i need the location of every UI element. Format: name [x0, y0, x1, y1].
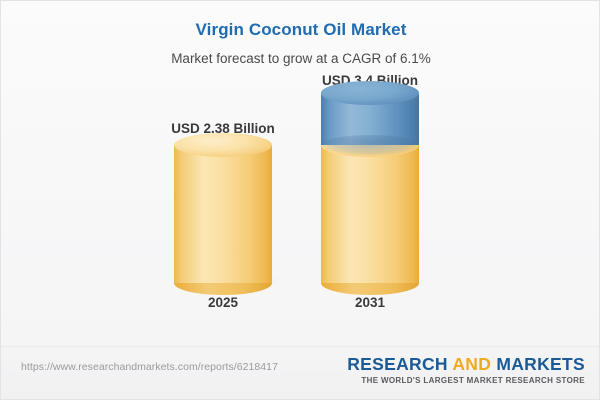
logo-word-markets: MARKETS [496, 354, 585, 374]
cylinder-top-ellipse-icon [321, 81, 419, 105]
cylinder-body [321, 145, 419, 283]
cylinder-body [174, 145, 272, 283]
brand-logo[interactable]: RESEARCH AND MARKETS THE WORLD'S LARGEST… [347, 354, 585, 386]
cylinder-top-ellipse-icon [174, 133, 272, 157]
x-axis-label-2031: 2031 [290, 295, 450, 311]
bar-segment-growth-2031 [321, 93, 419, 145]
bar-cylinder-2025[interactable] [174, 145, 272, 283]
chart-footer: https://www.researchandmarkets.com/repor… [1, 346, 600, 399]
bar-segment-base-2025 [174, 145, 272, 283]
infographic-card: Virgin Coconut Oil Market Market forecas… [0, 0, 600, 400]
cylinder-seam-icon [321, 135, 419, 155]
bar-segment-base-2031 [321, 145, 419, 283]
source-url-link[interactable]: https://www.researchandmarkets.com/repor… [21, 360, 278, 374]
logo-wordmark: RESEARCH AND MARKETS [347, 354, 585, 374]
logo-word-research: RESEARCH [347, 354, 448, 374]
logo-word-and: AND [452, 354, 491, 374]
x-axis-label-2025: 2025 [143, 295, 303, 311]
chart-plot-area: USD 2.38 Billion 2025 USD 3.4 Billion [1, 1, 600, 349]
logo-tagline: THE WORLD'S LARGEST MARKET RESEARCH STOR… [347, 376, 585, 386]
bar-cylinder-2031[interactable] [321, 93, 419, 283]
